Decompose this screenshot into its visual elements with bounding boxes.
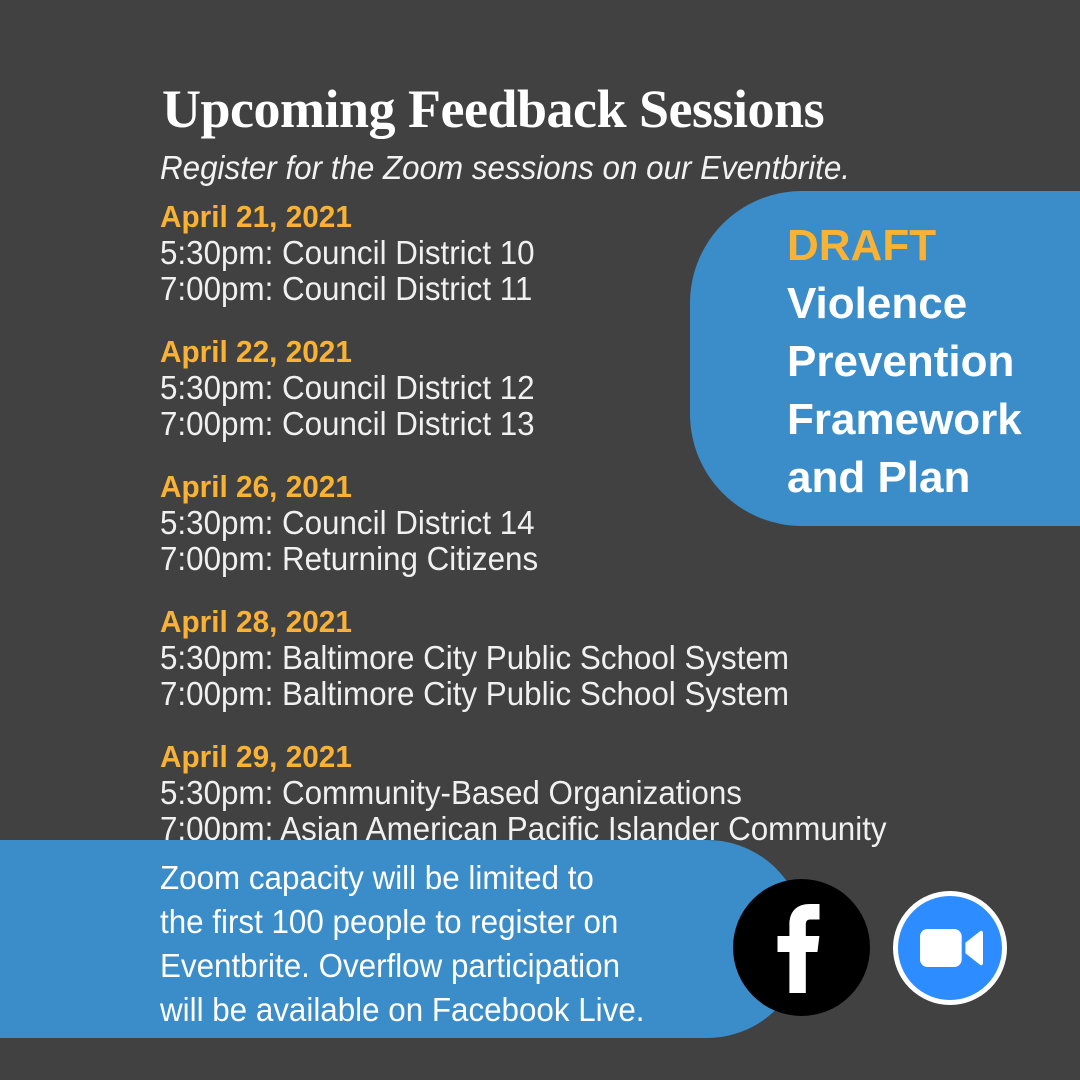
draft-title-line: Violence [787, 275, 1080, 333]
schedule-session: 7:00pm: Baltimore City Public School Sys… [160, 676, 1015, 712]
banner-line: Zoom capacity will be limited to [160, 856, 773, 900]
draft-title-line: Prevention [787, 333, 1080, 391]
schedule-group: April 29, 2021 5:30pm: Community-Based O… [160, 738, 1060, 847]
zoom-video-icon[interactable] [893, 891, 1007, 1005]
banner-line: the first 100 people to register on [160, 900, 773, 944]
draft-panel: DRAFT Violence Prevention Framework and … [690, 191, 1080, 526]
schedule-session: 5:30pm: Community-Based Organizations [160, 775, 1015, 811]
draft-title-line: and Plan [787, 449, 1080, 507]
schedule-date: April 28, 2021 [160, 603, 1024, 640]
facebook-icon[interactable] [733, 879, 870, 1016]
schedule-group: April 28, 2021 5:30pm: Baltimore City Pu… [160, 603, 1060, 712]
schedule-date: April 29, 2021 [160, 738, 1024, 775]
draft-title-line: Framework [787, 391, 1080, 449]
draft-panel-title: Violence Prevention Framework and Plan [787, 275, 1080, 507]
poster-canvas: Upcoming Feedback Sessions Register for … [0, 0, 1080, 1080]
banner-line: Eventbrite. Overflow participation [160, 944, 773, 988]
schedule-session: 7:00pm: Returning Citizens [160, 541, 1015, 577]
page-subtitle: Register for the Zoom sessions on our Ev… [160, 148, 850, 188]
draft-badge: DRAFT [787, 217, 1080, 275]
capacity-notice-banner: Zoom capacity will be limited to the fir… [0, 840, 805, 1038]
schedule-session: 5:30pm: Baltimore City Public School Sys… [160, 640, 1015, 676]
banner-line: will be available on Facebook Live. [160, 988, 773, 1032]
page-title: Upcoming Feedback Sessions [162, 78, 824, 140]
